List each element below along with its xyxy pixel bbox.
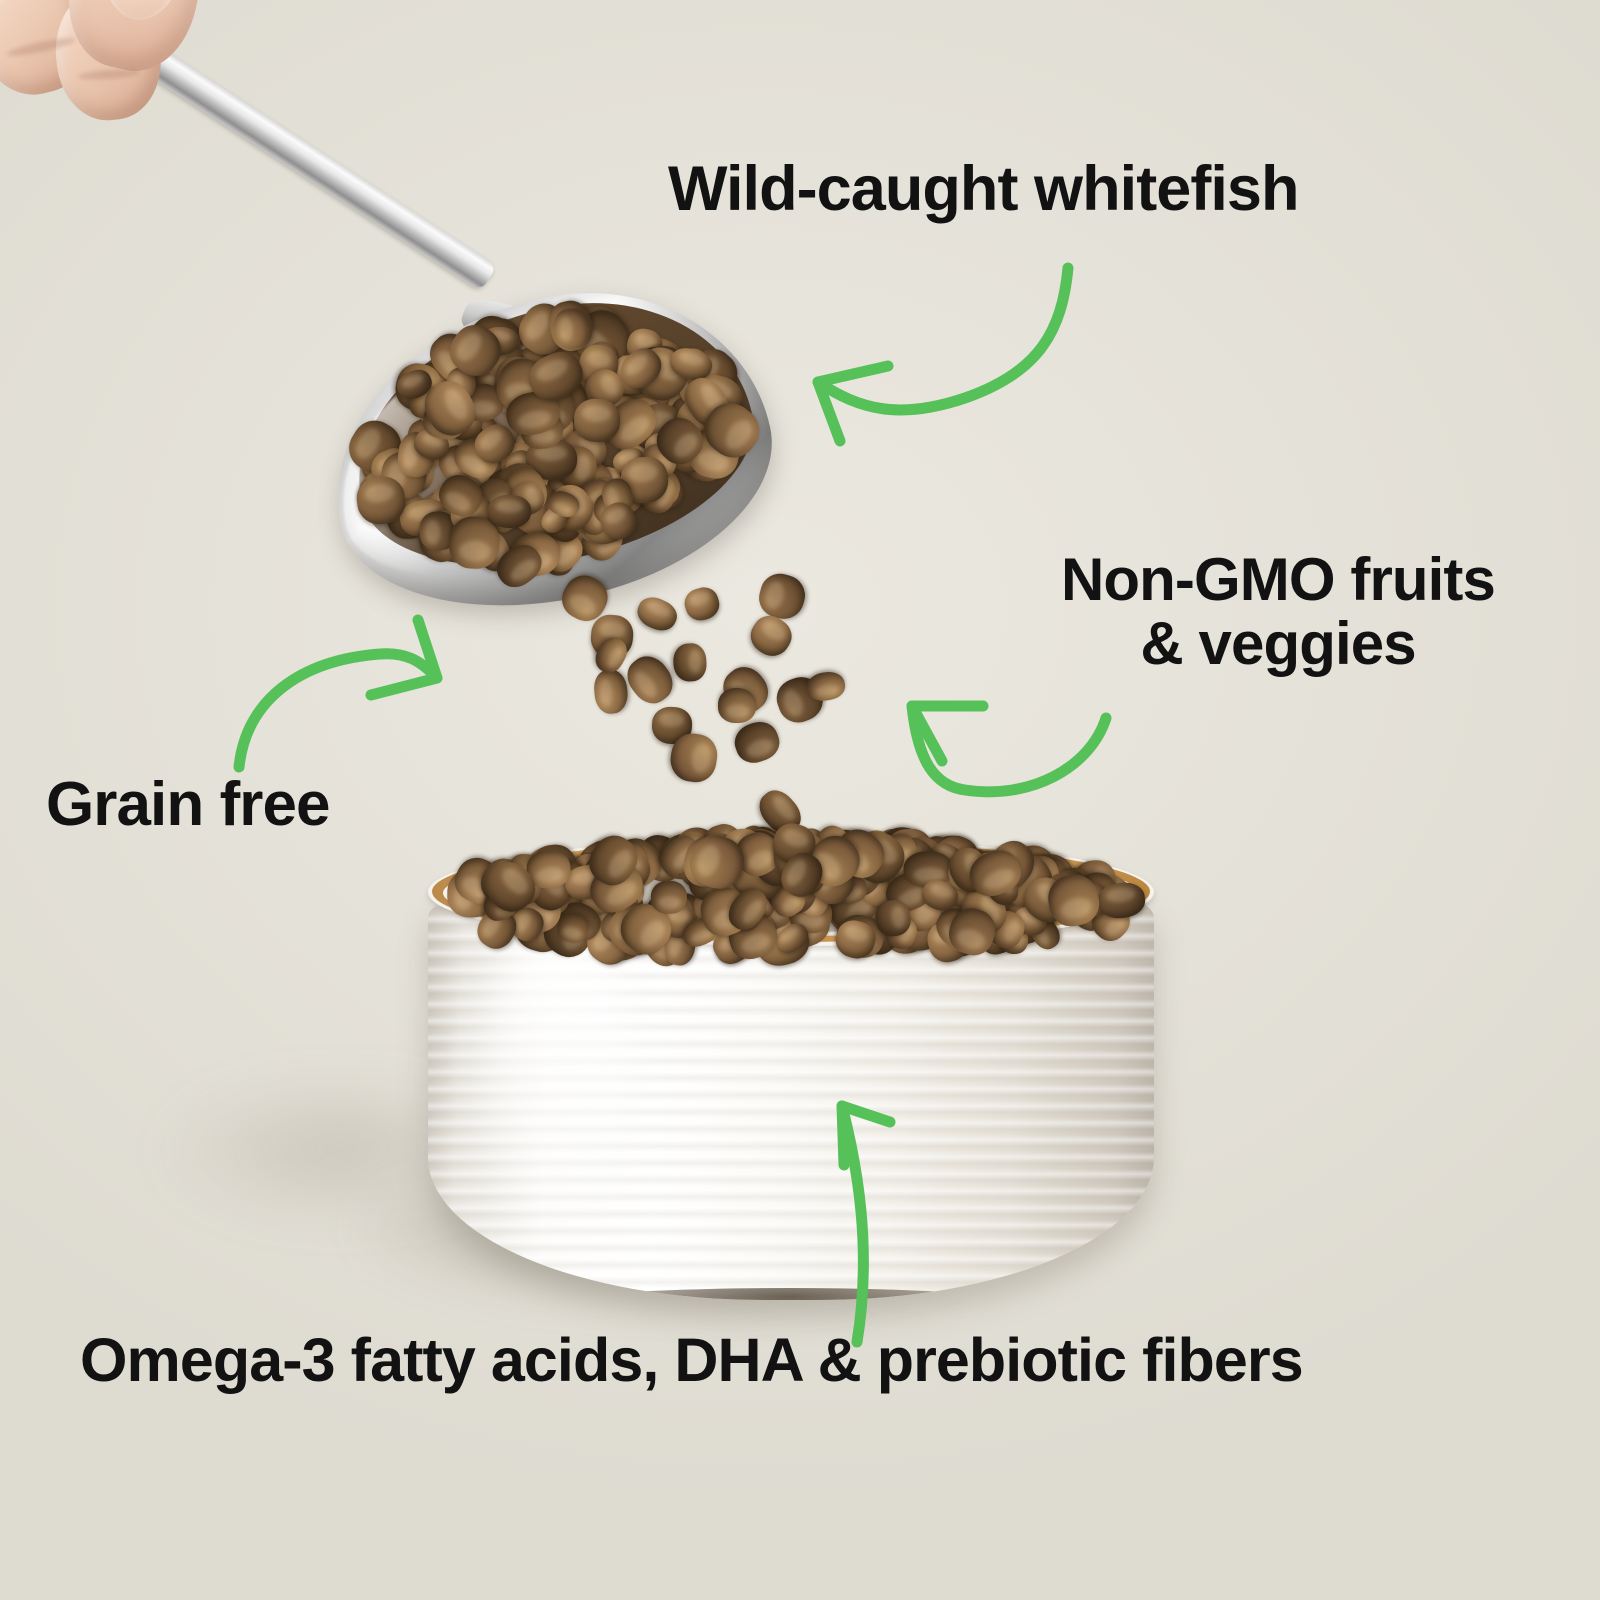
kibble-piece — [489, 537, 548, 595]
kibble-piece — [730, 716, 784, 767]
label-non-gmo-fruits-veggies: Non-GMO fruits & veggies — [1008, 548, 1548, 675]
kibble-piece — [681, 584, 723, 624]
kibble-piece — [673, 642, 708, 682]
kibble-piece — [805, 669, 847, 702]
dog-bowl — [428, 838, 1154, 1303]
label-wild-caught-whitefish: Wild-caught whitefish — [668, 156, 1299, 223]
kibble-piece — [650, 881, 686, 914]
kibble-piece — [755, 569, 809, 623]
kibble-piece — [592, 669, 629, 716]
kibble-piece — [718, 688, 757, 724]
label-omega-3-fatty-acids: Omega-3 fatty acids, DHA & prebiotic fib… — [80, 1328, 1303, 1393]
label-grain-free: Grain free — [46, 772, 330, 838]
kibble-in-bowl — [428, 838, 1154, 988]
kibble-piece — [633, 592, 682, 636]
product-feature-image: Wild-caught whitefish Non-GMO fruits & v… — [0, 0, 1600, 1600]
kibble-piece — [620, 649, 681, 711]
